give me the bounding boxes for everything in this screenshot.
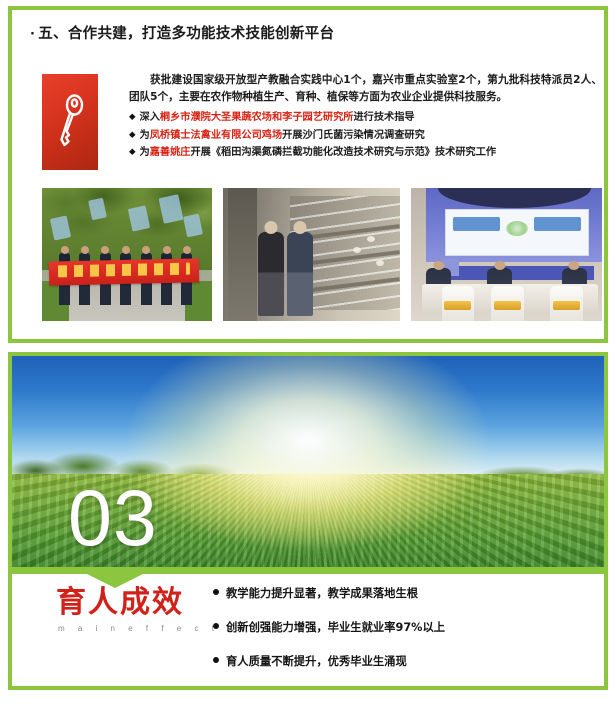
photo2-person-left [258, 232, 284, 316]
round-bullet-icon [213, 623, 219, 629]
effect-item-text: 创新创强能力增强，毕业生就业率97%以上 [226, 621, 445, 634]
diamond-bullet-icon: ◆ [129, 144, 136, 162]
bullet-prefix: 为 [140, 147, 150, 158]
section-heading: ·五、合作共建，打造多功能技术技能创新平台 [30, 22, 334, 43]
effect-item: 育人质量不断提升，优秀毕业生涌现 [213, 654, 593, 670]
photo3-slide-left-box [453, 217, 500, 231]
photo1-red-banner [49, 258, 199, 285]
bullet-suffix: 开展《稻田沟渠氮磷拦截功能化改造技术研究与示范》技术研究工作 [190, 147, 496, 158]
photo-conference-presentation [411, 188, 602, 321]
photo3-slide-center-graphic [506, 221, 529, 236]
hero-farm-field-sunrise: 03 [12, 356, 604, 567]
cooperation-platform-panel: ·五、合作共建，打造多功能技术技能创新平台 获批建设国家级开放型产教融合实践中心… [8, 6, 608, 343]
photo-poultry-house-visit [223, 188, 400, 321]
bullet-prefix: 深入 [140, 112, 160, 123]
photo3-chair [442, 286, 474, 321]
round-bullet-icon [213, 589, 219, 595]
bullet-prefix: 为 [140, 130, 150, 141]
photo3-chair-sash [494, 301, 521, 310]
diamond-bullet-icon: ◆ [129, 109, 136, 127]
effect-item-text: 教学能力提升显著，教学成果落地生根 [226, 587, 418, 600]
photo2-person-right [287, 232, 313, 316]
photo-village-group-banner [42, 188, 212, 321]
effect-item-text: 育人质量不断提升，优秀毕业生涌现 [226, 655, 407, 668]
photo3-chair-sash [553, 301, 580, 310]
diamond-bullet-icon: ◆ [129, 127, 136, 145]
bullet-item: ◆为凤桥镇士法禽业有限公司鸡场开展沙门氏菌污染情况调查研究 [129, 127, 602, 145]
intro-paragraph: 获批建设国家级开放型产教融合实践中心1个，嘉兴市重点实验室2个，第九批科技特派员… [129, 72, 602, 105]
bullet-highlight: 凤桥镇士法禽业有限公司鸡场 [150, 130, 282, 141]
photo3-slide-right-box [534, 217, 581, 231]
photo2-pillar [228, 188, 256, 321]
effects-bullet-list: 教学能力提升显著，教学成果落地生根 创新创强能力增强，毕业生就业率97%以上 育… [213, 586, 593, 688]
bullet-highlight: 嘉善姚庄 [150, 147, 191, 158]
bullet-item: ◆为嘉善姚庄开展《稻田沟渠氮磷拦截功能化改造技术研究与示范》技术研究工作 [129, 144, 602, 162]
effect-item: 创新创强能力增强，毕业生就业率97%以上 [213, 620, 593, 636]
section-subtitle-en: m a i n e f f e c t s [58, 624, 237, 633]
heading-bullet-dot: · [30, 28, 35, 41]
section-number: 03 [68, 482, 158, 553]
section-03-panel: 03 育人成效 m a i n e f f e c t s 教学能力提升显著，教… [8, 352, 608, 690]
paragraph-block: 获批建设国家级开放型产教融合实践中心1个，嘉兴市重点实验室2个，第九批科技特派员… [129, 72, 602, 105]
photo3-chair [550, 286, 582, 321]
photo3-chair-sash [444, 301, 471, 310]
photo2-hen [353, 247, 361, 253]
key-icon-card [42, 74, 98, 170]
key-icon [55, 94, 85, 150]
photo2-person-head [265, 221, 278, 234]
bullet-suffix: 进行技术指导 [353, 112, 414, 123]
round-bullet-icon [213, 657, 219, 663]
effect-item: 教学能力提升显著，教学成果落地生根 [213, 586, 593, 602]
photo2-hen [376, 260, 384, 266]
heading-text: 五、合作共建，打造多功能技术技能创新平台 [38, 26, 334, 42]
bullet-highlight: 桐乡市濮院大圣果蔬农场和李子园艺研究所 [160, 112, 354, 123]
bullet-suffix: 开展沙门氏菌污染情况调查研究 [282, 130, 425, 141]
photo3-projection-screen [445, 209, 588, 256]
achievement-bullet-list: ◆深入桐乡市濮院大圣果蔬农场和李子园艺研究所进行技术指导 ◆为凤桥镇士法禽业有限… [129, 109, 602, 162]
photo2-person-head [293, 221, 306, 234]
photo3-chair [491, 286, 523, 321]
bullet-item: ◆深入桐乡市濮院大圣果蔬农场和李子园艺研究所进行技术指导 [129, 109, 602, 127]
photo1-banner-text [58, 262, 190, 277]
section-title-cn: 育人成效 [56, 588, 184, 618]
